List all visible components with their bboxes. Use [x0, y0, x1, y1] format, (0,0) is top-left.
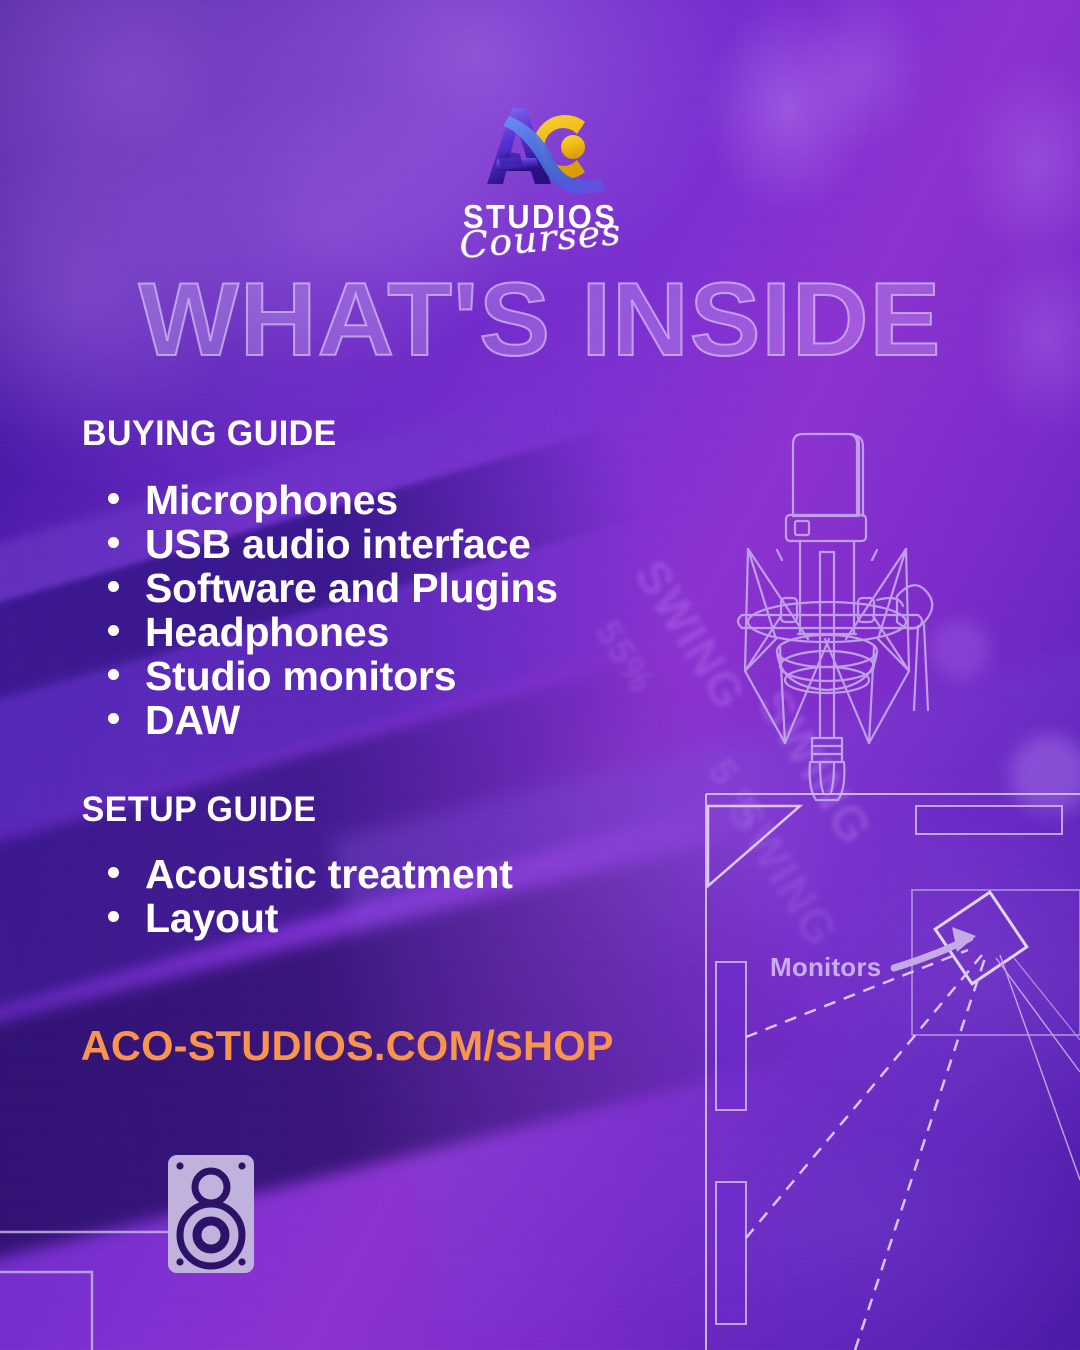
list-item-label: Software and Plugins — [145, 566, 558, 610]
list-item: DAW — [108, 698, 558, 742]
list-item-label: Headphones — [145, 610, 389, 654]
list-item-label: Microphones — [145, 478, 398, 522]
list-item: Headphones — [108, 610, 558, 654]
list-item-label: DAW — [145, 698, 240, 742]
bullet-dot-icon — [108, 537, 119, 548]
list-item-label: USB audio interface — [145, 522, 531, 566]
list-item-label: Studio monitors — [145, 654, 456, 698]
buying-guide-list: Microphones USB audio interface Software… — [108, 478, 558, 742]
section-heading-buying-guide: BUYING GUIDE — [82, 414, 337, 454]
bullet-dot-icon — [108, 713, 119, 724]
bullet-dot-icon — [108, 581, 119, 592]
list-item: Acoustic treatment — [108, 852, 513, 896]
bullet-dot-icon — [108, 493, 119, 504]
list-item: Layout — [108, 896, 513, 940]
list-item-label: Acoustic treatment — [145, 852, 513, 896]
page-title: WHAT'S INSIDE — [0, 268, 1080, 372]
aco-monogram-logo — [465, 96, 615, 196]
shop-url-link[interactable]: ACO-STUDIOS.COM/SHOP — [81, 1022, 614, 1070]
section-heading-setup-guide: SETUP GUIDE — [82, 790, 317, 830]
bullet-dot-icon — [108, 669, 119, 680]
list-item: Studio monitors — [108, 654, 558, 698]
list-item: Software and Plugins — [108, 566, 558, 610]
bullet-dot-icon — [108, 911, 119, 922]
bullet-dot-icon — [108, 867, 119, 878]
list-item: Microphones — [108, 478, 558, 522]
bullet-dot-icon — [108, 625, 119, 636]
list-item-label: Layout — [145, 896, 278, 940]
brand-logo: STUDIOS Courses — [0, 96, 1080, 260]
monitors-label: Monitors — [770, 952, 881, 983]
list-item: USB audio interface — [108, 522, 558, 566]
poster-canvas: SWING 55% SWING 5 % SWING — [0, 0, 1080, 1350]
setup-guide-list: Acoustic treatment Layout — [108, 852, 513, 940]
